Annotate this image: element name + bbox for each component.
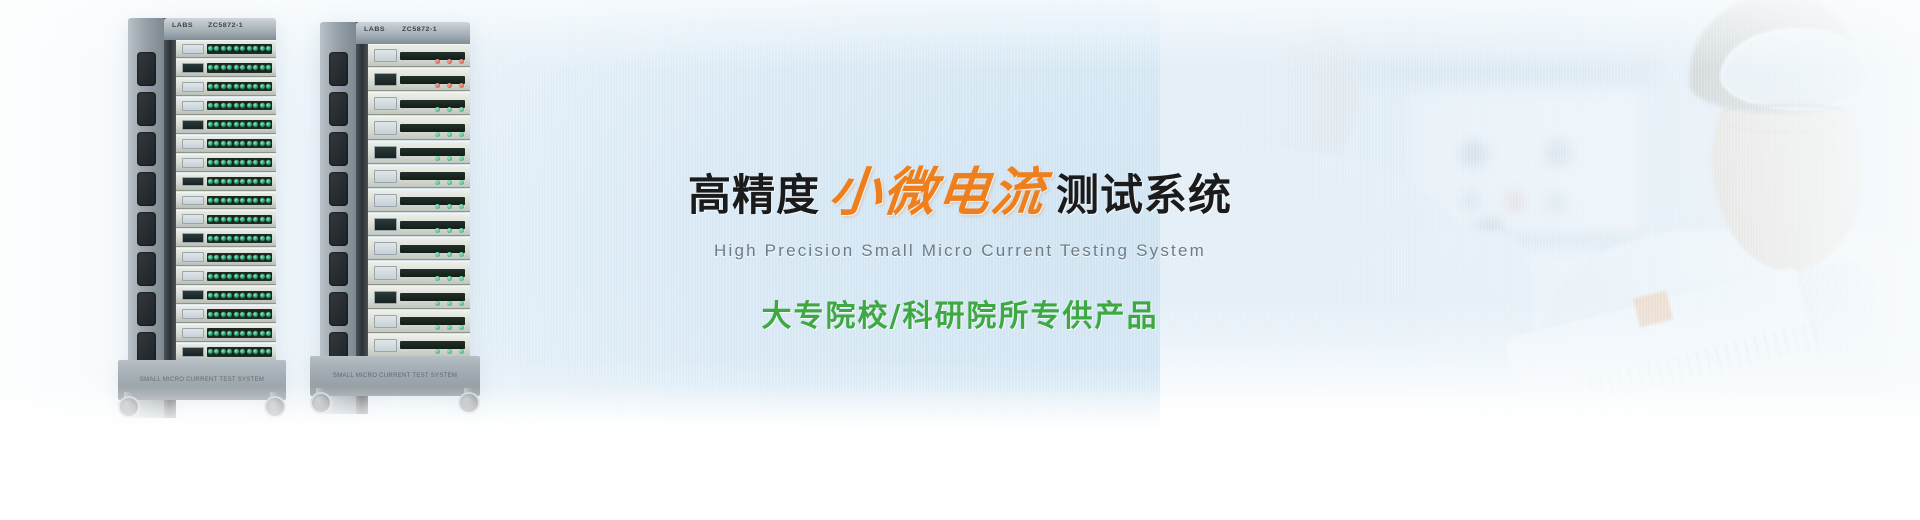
unit-display [182, 328, 204, 338]
unit-terminal-strip [207, 309, 272, 318]
unit-terminal [234, 236, 239, 241]
unit-terminal [208, 274, 213, 279]
unit-terminal [247, 46, 252, 51]
unit-display [182, 177, 204, 187]
unit-terminal [227, 293, 232, 298]
unit-knob [435, 325, 440, 330]
unit-knob [459, 180, 464, 185]
unit-terminal [247, 331, 252, 336]
unit-terminal [221, 236, 226, 241]
rack-left-side-frame [128, 18, 164, 418]
rack-left-top-panel: LABS ZC5872-1 [164, 18, 276, 40]
rack-vent-slot [329, 92, 348, 126]
unit-terminal [227, 84, 232, 89]
rack-unit [176, 97, 276, 115]
bottom-white-strip [0, 430, 1920, 520]
unit-knob [447, 325, 452, 330]
unit-terminal [221, 160, 226, 165]
unit-knob [447, 156, 452, 161]
unit-terminal [234, 65, 239, 70]
unit-terminal [227, 122, 232, 127]
unit-terminal [221, 84, 226, 89]
unit-terminal [260, 349, 265, 354]
title-suffix: 测试系统 [1056, 161, 1232, 223]
rack-unit [368, 189, 470, 212]
equipment-rack-right: LABS ZC5872-1 SMALL MICRO CURRENT TEST S… [320, 22, 470, 414]
unit-terminal [266, 274, 271, 279]
rack-vent-slot [137, 212, 156, 246]
unit-terminal [247, 103, 252, 108]
unit-terminal [260, 65, 265, 70]
unit-terminal [253, 236, 258, 241]
unit-terminal [221, 103, 226, 108]
unit-terminal [240, 274, 245, 279]
unit-knob [435, 204, 440, 209]
unit-terminal [208, 331, 213, 336]
unit-knob [459, 132, 464, 137]
unit-terminal [221, 65, 226, 70]
rack-vent-slot [329, 132, 348, 166]
unit-knob [459, 83, 464, 88]
rack-unit [176, 40, 276, 58]
unit-terminal [234, 255, 239, 260]
unit-terminal-strip [207, 82, 272, 91]
unit-terminal [240, 236, 245, 241]
unit-terminal [221, 198, 226, 203]
unit-terminal [247, 217, 252, 222]
unit-terminal [227, 198, 232, 203]
unit-terminal-strip [207, 328, 272, 337]
unit-knob [435, 83, 440, 88]
unit-terminal [266, 103, 271, 108]
unit-display [374, 315, 396, 328]
rack-unit [176, 229, 276, 247]
rack-unit [176, 135, 276, 153]
unit-terminal [227, 179, 232, 184]
unit-terminal [227, 103, 232, 108]
unit-display [182, 101, 204, 111]
unit-terminal [260, 122, 265, 127]
unit-terminal [221, 293, 226, 298]
unit-display [182, 233, 204, 243]
unit-terminal [240, 65, 245, 70]
unit-terminal-strip [207, 139, 272, 148]
unit-display [182, 252, 204, 262]
rack-vent-slot [137, 292, 156, 326]
unit-display [374, 97, 396, 110]
unit-display [182, 63, 204, 73]
unit-knob [435, 252, 440, 257]
unit-terminal [221, 349, 226, 354]
unit-terminal [214, 160, 219, 165]
unit-knob [435, 132, 440, 137]
rack-unit [176, 267, 276, 285]
unit-terminal [240, 122, 245, 127]
rack-unit [368, 213, 470, 236]
unit-terminal [260, 198, 265, 203]
unit-terminal [214, 349, 219, 354]
unit-terminal [260, 141, 265, 146]
unit-knob [447, 107, 452, 112]
unit-terminal [234, 293, 239, 298]
unit-terminal [227, 236, 232, 241]
unit-terminal [227, 160, 232, 165]
unit-terminal [260, 274, 265, 279]
unit-terminal [208, 198, 213, 203]
unit-knob [435, 301, 440, 306]
bottom-white-fade [0, 386, 1920, 430]
unit-knob [459, 349, 464, 354]
title-prefix: 高精度 [688, 161, 820, 223]
unit-terminal [253, 293, 258, 298]
unit-terminal [208, 160, 213, 165]
unit-knob-row [435, 276, 464, 281]
unit-terminal [266, 349, 271, 354]
unit-display [374, 170, 396, 183]
unit-terminal [247, 122, 252, 127]
rack-unit [176, 286, 276, 304]
unit-terminal [214, 274, 219, 279]
unit-knob [447, 83, 452, 88]
unit-terminal [260, 179, 265, 184]
unit-terminal [247, 293, 252, 298]
unit-terminal [260, 103, 265, 108]
unit-terminal [240, 46, 245, 51]
unit-terminal [208, 103, 213, 108]
unit-terminal [253, 255, 258, 260]
unit-knob [459, 107, 464, 112]
rack-unit [176, 173, 276, 191]
unit-display [182, 214, 204, 224]
unit-knob [447, 349, 452, 354]
banner-subtitle-english: High Precision Small Micro Current Testi… [640, 241, 1280, 261]
rack-unit [176, 343, 276, 361]
unit-terminal [227, 65, 232, 70]
unit-terminal-strip [207, 63, 272, 72]
unit-knob [447, 204, 452, 209]
unit-terminal [240, 312, 245, 317]
unit-terminal-strip [207, 291, 272, 300]
unit-terminal [208, 312, 213, 317]
rack-unit [368, 286, 470, 309]
unit-knob-row [435, 180, 464, 185]
unit-terminal [208, 236, 213, 241]
unit-knob [459, 276, 464, 281]
rack-unit [176, 116, 276, 134]
rack-brand-label: LABS [364, 27, 385, 33]
unit-terminal [240, 331, 245, 336]
unit-terminal [260, 255, 265, 260]
unit-terminal [208, 84, 213, 89]
unit-terminal [266, 141, 271, 146]
rack-unit [176, 59, 276, 77]
unit-knob-row [435, 83, 464, 88]
unit-terminal [260, 84, 265, 89]
unit-terminal [214, 312, 219, 317]
unit-terminal [247, 349, 252, 354]
unit-terminal [253, 122, 258, 127]
unit-terminal [253, 274, 258, 279]
rack-vent-slot [329, 212, 348, 246]
unit-terminal [234, 274, 239, 279]
unit-terminal-strip [207, 347, 272, 356]
unit-knob-row [435, 301, 464, 306]
unit-display [182, 271, 204, 281]
unit-terminal [266, 160, 271, 165]
unit-terminal [253, 103, 258, 108]
unit-knob [459, 59, 464, 64]
rack-unit [368, 334, 470, 357]
unit-knob [447, 252, 452, 257]
unit-knob-row [435, 59, 464, 64]
unit-knob [435, 276, 440, 281]
unit-terminal [266, 217, 271, 222]
rack-unit [368, 141, 470, 164]
unit-display [182, 139, 204, 149]
banner-subtitle-chinese: 大专院校/科研院所专供产品 [640, 291, 1280, 335]
unit-terminal [266, 312, 271, 317]
unit-terminal [214, 198, 219, 203]
rack-vent-slot [329, 292, 348, 326]
unit-terminal [266, 84, 271, 89]
unit-knob [435, 107, 440, 112]
unit-terminal [240, 349, 245, 354]
unit-display [374, 49, 396, 62]
unit-terminal [221, 217, 226, 222]
rack-unit [176, 210, 276, 228]
unit-terminal [253, 65, 258, 70]
unit-terminal-strip [207, 234, 272, 243]
unit-display [182, 158, 204, 168]
unit-terminal [221, 141, 226, 146]
unit-terminal [240, 103, 245, 108]
unit-display [182, 44, 204, 54]
unit-terminal [240, 198, 245, 203]
unit-terminal-strip [207, 272, 272, 281]
unit-terminal [234, 198, 239, 203]
unit-terminal [221, 331, 226, 336]
unit-terminal [266, 236, 271, 241]
unit-terminal [214, 331, 219, 336]
unit-terminal [234, 331, 239, 336]
unit-terminal [214, 46, 219, 51]
unit-terminal [266, 293, 271, 298]
unit-terminal [247, 198, 252, 203]
unit-terminal [253, 198, 258, 203]
unit-terminal [247, 274, 252, 279]
unit-terminal [247, 84, 252, 89]
rack-vent-slot [137, 172, 156, 206]
unit-terminal [234, 122, 239, 127]
unit-terminal [208, 141, 213, 146]
unit-knob-row [435, 228, 464, 233]
unit-terminal [260, 312, 265, 317]
unit-knob-row [435, 107, 464, 112]
unit-terminal [208, 179, 213, 184]
unit-terminal [234, 160, 239, 165]
unit-terminal [253, 217, 258, 222]
unit-terminal-strip [207, 101, 272, 110]
unit-terminal [214, 65, 219, 70]
unit-terminal [240, 179, 245, 184]
unit-terminal [260, 293, 265, 298]
rack-model-label: ZC5872-1 [402, 27, 437, 33]
unit-knob [435, 349, 440, 354]
unit-terminal [253, 141, 258, 146]
unit-terminal [208, 122, 213, 127]
unit-terminal-strip [207, 158, 272, 167]
unit-terminal [260, 160, 265, 165]
unit-knob [435, 59, 440, 64]
unit-terminal-strip [207, 253, 272, 262]
unit-terminal [240, 160, 245, 165]
unit-terminal-strip [207, 44, 272, 53]
unit-terminal [214, 141, 219, 146]
unit-terminal [227, 274, 232, 279]
unit-terminal [253, 160, 258, 165]
unit-knob [459, 301, 464, 306]
unit-display [374, 291, 396, 304]
unit-terminal [247, 160, 252, 165]
unit-terminal [247, 312, 252, 317]
unit-terminal [260, 236, 265, 241]
unit-display [374, 242, 396, 255]
rack-model-label: ZC5872-1 [208, 23, 243, 29]
unit-terminal [208, 293, 213, 298]
unit-terminal [266, 46, 271, 51]
rack-right-units [368, 44, 470, 358]
rack-vent-slot [137, 132, 156, 166]
unit-terminal [266, 122, 271, 127]
unit-terminal [208, 65, 213, 70]
rack-left-units [176, 40, 276, 362]
unit-terminal [253, 349, 258, 354]
rack-left-rail [164, 18, 176, 418]
rack-vent-slot [137, 92, 156, 126]
product-banner: LABS ZC5872-1 SMALL MICRO CURRENT TEST S… [0, 0, 1920, 520]
unit-knob [459, 156, 464, 161]
rack-unit [176, 192, 276, 210]
unit-terminal-strip [207, 215, 272, 224]
rack-unit [176, 324, 276, 342]
unit-knob-row [435, 156, 464, 161]
unit-terminal [240, 84, 245, 89]
unit-terminal [253, 312, 258, 317]
unit-display [374, 194, 396, 207]
unit-terminal [214, 236, 219, 241]
unit-knob [447, 301, 452, 306]
unit-knob [435, 180, 440, 185]
unit-terminal [240, 217, 245, 222]
rack-vent-slot [137, 252, 156, 286]
unit-terminal [234, 217, 239, 222]
unit-terminal [208, 217, 213, 222]
unit-terminal [221, 312, 226, 317]
rack-unit [176, 248, 276, 266]
unit-terminal [234, 179, 239, 184]
unit-terminal [247, 65, 252, 70]
rack-unit [368, 165, 470, 188]
unit-terminal [227, 141, 232, 146]
unit-knob-row [435, 349, 464, 354]
background-top-fade [0, 0, 1920, 70]
rack-brand-label: LABS [172, 23, 193, 29]
unit-knob [447, 180, 452, 185]
unit-terminal [221, 274, 226, 279]
unit-terminal [240, 141, 245, 146]
unit-terminal [260, 217, 265, 222]
rack-unit [176, 154, 276, 172]
unit-knob [435, 156, 440, 161]
unit-terminal [253, 46, 258, 51]
unit-display [182, 290, 204, 300]
rack-vent-slot [329, 172, 348, 206]
unit-display [182, 309, 204, 319]
unit-knob [447, 132, 452, 137]
rack-unit [368, 261, 470, 284]
unit-terminal [208, 46, 213, 51]
unit-terminal [234, 141, 239, 146]
unit-terminal [247, 255, 252, 260]
unit-terminal [234, 84, 239, 89]
unit-terminal [253, 84, 258, 89]
unit-terminal [253, 331, 258, 336]
rack-unit [368, 68, 470, 91]
unit-terminal [266, 179, 271, 184]
rack-right-top-panel: LABS ZC5872-1 [356, 22, 470, 44]
equipment-rack-left: LABS ZC5872-1 SMALL MICRO CURRENT TEST S… [128, 18, 276, 418]
unit-knob [459, 252, 464, 257]
unit-terminal [240, 293, 245, 298]
unit-terminal [214, 217, 219, 222]
unit-terminal [208, 255, 213, 260]
unit-knob [447, 59, 452, 64]
unit-display [374, 266, 396, 279]
unit-knob-row [435, 252, 464, 257]
unit-terminal [208, 349, 213, 354]
unit-terminal [234, 349, 239, 354]
unit-terminal [227, 255, 232, 260]
unit-terminal [227, 331, 232, 336]
unit-terminal-strip [207, 196, 272, 205]
unit-display [374, 339, 396, 352]
unit-terminal [234, 46, 239, 51]
unit-display [374, 121, 396, 134]
unit-terminal [214, 179, 219, 184]
unit-terminal [253, 179, 258, 184]
unit-display [182, 82, 204, 92]
unit-terminal [234, 103, 239, 108]
unit-terminal [260, 46, 265, 51]
unit-terminal [227, 217, 232, 222]
unit-knob-row [435, 132, 464, 137]
unit-terminal [214, 255, 219, 260]
rack-vent-slot [329, 52, 348, 86]
unit-knob-row [435, 204, 464, 209]
unit-terminal [247, 179, 252, 184]
unit-terminal [240, 255, 245, 260]
unit-knob [447, 276, 452, 281]
unit-display [374, 146, 396, 159]
unit-terminal [214, 122, 219, 127]
rack-unit [176, 78, 276, 96]
rack-unit [368, 116, 470, 139]
banner-text-block: 高精度 小微电流 测试系统 High Precision Small Micro… [640, 150, 1280, 335]
rack-vent-slot [137, 52, 156, 86]
unit-terminal-strip [207, 120, 272, 129]
unit-terminal [266, 255, 271, 260]
unit-display [182, 196, 204, 206]
